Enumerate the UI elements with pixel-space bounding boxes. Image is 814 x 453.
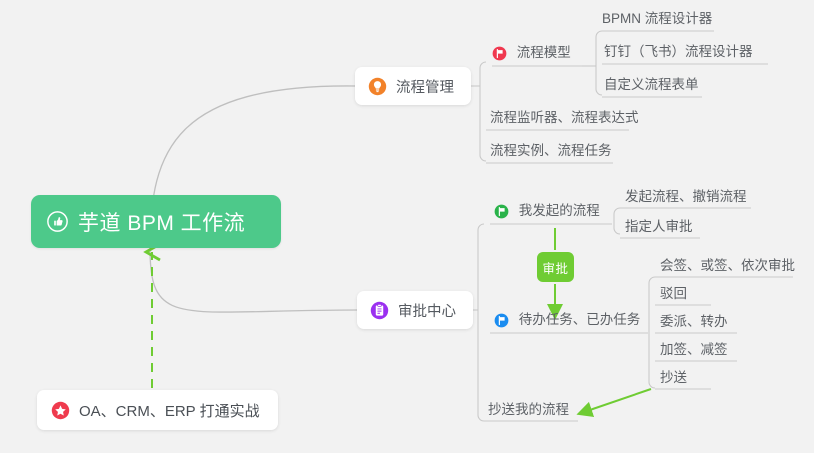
node-start-cancel[interactable]: 发起流程、撤销流程 bbox=[625, 190, 747, 209]
node-label-todo-done: 待办任务、已办任务 bbox=[519, 313, 641, 332]
branch-label-approval-center: 审批中心 bbox=[398, 300, 456, 321]
clipboard-icon bbox=[370, 301, 389, 320]
node-label-add-remove-sign: 加签、减签 bbox=[660, 343, 728, 362]
note-label: OA、CRM、ERP 打通实战 bbox=[79, 400, 260, 421]
node-label-instance-task: 流程实例、流程任务 bbox=[490, 144, 612, 163]
node-todo-done[interactable]: 待办任务、已办任务 bbox=[494, 313, 640, 332]
node-label-delegate-transfer: 委派、转办 bbox=[660, 315, 728, 334]
mindmap-canvas: 芋道 BPM 工作流 流程管理 审批中心 bbox=[0, 0, 814, 453]
wire-todo-bracket bbox=[649, 277, 655, 388]
annotation-chip-label: 审批 bbox=[542, 258, 568, 277]
flag-icon bbox=[492, 46, 507, 61]
node-label-start-cancel: 发起流程、撤销流程 bbox=[625, 190, 747, 209]
star-icon bbox=[51, 401, 70, 420]
node-label-listener-expression: 流程监听器、流程表达式 bbox=[490, 111, 639, 130]
wire-model-bracket bbox=[596, 31, 602, 95]
node-label-custom-process-form: 自定义流程表单 bbox=[604, 78, 699, 97]
node-label-my-initiated: 我发起的流程 bbox=[519, 204, 600, 223]
node-dingtalk-feishu-designer[interactable]: 钉钉（飞书）流程设计器 bbox=[604, 45, 753, 64]
root-node[interactable]: 芋道 BPM 工作流 bbox=[31, 195, 281, 248]
node-process-model[interactable]: 流程模型 bbox=[492, 46, 571, 65]
wire-approval-bracket bbox=[478, 224, 484, 421]
root-label: 芋道 BPM 工作流 bbox=[78, 207, 245, 237]
branch-node-process-management[interactable]: 流程管理 bbox=[355, 67, 471, 105]
node-assignee-approval[interactable]: 指定人审批 bbox=[625, 220, 693, 239]
node-label-cc: 抄送 bbox=[660, 371, 687, 390]
node-instance-task[interactable]: 流程实例、流程任务 bbox=[490, 144, 612, 163]
node-custom-process-form[interactable]: 自定义流程表单 bbox=[604, 78, 699, 97]
branch-node-approval-center[interactable]: 审批中心 bbox=[357, 291, 473, 329]
wire-process-bracket bbox=[480, 62, 486, 161]
node-listener-expression[interactable]: 流程监听器、流程表达式 bbox=[490, 111, 639, 130]
node-label-assignee-approval: 指定人审批 bbox=[625, 220, 693, 239]
node-cc-to-me[interactable]: 抄送我的流程 bbox=[488, 403, 569, 422]
note-node-integration[interactable]: OA、CRM、ERP 打通实战 bbox=[37, 390, 278, 430]
node-label-bpmn-designer: BPMN 流程设计器 bbox=[602, 12, 712, 31]
node-add-remove-sign[interactable]: 加签、减签 bbox=[660, 343, 728, 362]
lightbulb-icon bbox=[368, 77, 387, 96]
node-label-process-model: 流程模型 bbox=[517, 46, 571, 65]
node-cc[interactable]: 抄送 bbox=[660, 371, 687, 390]
annotation-chip-approval[interactable]: 审批 bbox=[537, 252, 574, 282]
annotation-arrow-cc bbox=[584, 389, 651, 412]
wire-initiated-bracket bbox=[614, 208, 620, 234]
node-my-initiated[interactable]: 我发起的流程 bbox=[494, 204, 600, 223]
node-countersign[interactable]: 会签、或签、依次审批 bbox=[660, 259, 795, 278]
node-delegate-transfer[interactable]: 委派、转办 bbox=[660, 315, 728, 334]
node-label-cc-to-me: 抄送我的流程 bbox=[488, 403, 569, 422]
branch-label-process-management: 流程管理 bbox=[396, 76, 454, 97]
node-label-countersign: 会签、或签、依次审批 bbox=[660, 259, 795, 278]
node-label-dingtalk-feishu-designer: 钉钉（飞书）流程设计器 bbox=[604, 45, 753, 64]
thumbs-up-icon bbox=[47, 211, 68, 232]
node-reject[interactable]: 驳回 bbox=[660, 287, 687, 306]
node-label-reject: 驳回 bbox=[660, 287, 687, 306]
flag-icon bbox=[494, 313, 509, 328]
node-bpmn-designer[interactable]: BPMN 流程设计器 bbox=[602, 12, 712, 31]
flag-icon bbox=[494, 204, 509, 219]
wire-root-to-approval bbox=[150, 248, 357, 312]
